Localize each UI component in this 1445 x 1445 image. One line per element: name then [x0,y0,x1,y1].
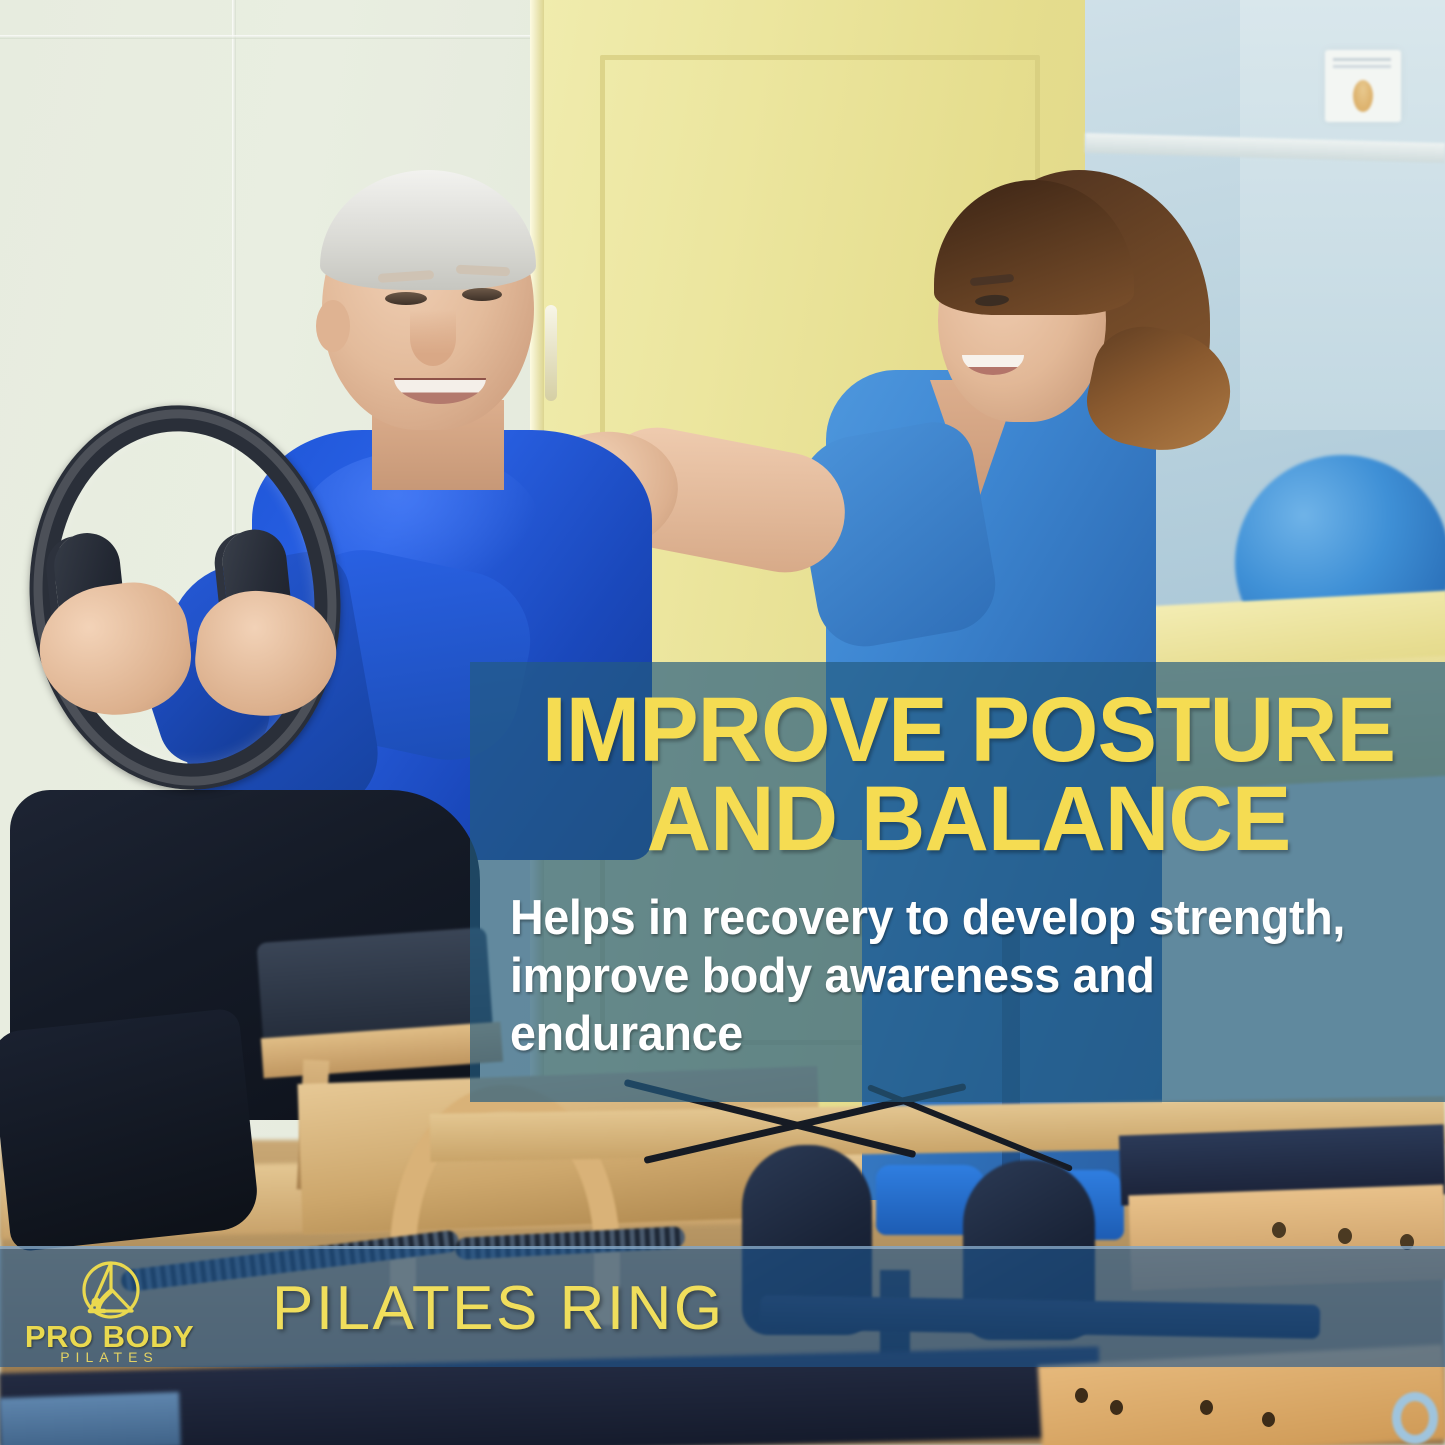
pilates-ring [11,390,360,805]
wood-rail-hole-3 [1200,1400,1213,1415]
wall-seam-horizontal [0,35,530,39]
patient-eye-left [385,292,427,305]
reformer-bench-hole-1 [1272,1222,1286,1238]
patient-nose [410,310,456,366]
reformer-bench-hole-2 [1338,1228,1352,1244]
info-panel: IMPROVE POSTURE AND BALANCE Helps in rec… [470,662,1445,1102]
headline-line-2: AND BALANCE [524,775,1413,864]
patient-ear [316,300,350,352]
brand-tagline: PILATES [22,1349,197,1365]
headline-line-1: IMPROVE POSTURE [542,679,1395,781]
wall-poster [1325,50,1401,122]
wood-rail-hole-4 [1262,1412,1275,1427]
product-name-label: PILATES RING [272,1273,725,1344]
door-handle [545,305,557,401]
info-panel-content: IMPROVE POSTURE AND BALANCE Helps in rec… [510,686,1427,1064]
product-marketing-image: IMPROVE POSTURE AND BALANCE Helps in rec… [0,0,1445,1445]
brand-bar: PRO BODY PILATES PILATES RING [0,1246,1445,1367]
patient-shin [0,1008,261,1253]
reformer-metal-ring [1392,1392,1438,1444]
subtext: Helps in recovery to develop strength, i… [510,890,1381,1063]
wood-rail-hole-1 [1075,1388,1088,1403]
brand-logo: PRO BODY PILATES [22,1257,197,1365]
probody-pilates-emblem-icon [74,1259,148,1327]
foreground-mat-edge [0,1392,181,1445]
wall-poster-text-lines [1333,58,1391,74]
headline: IMPROVE POSTURE AND BALANCE [524,686,1413,864]
patient-eye-right [462,288,502,301]
wood-rail-hole-2 [1110,1400,1123,1415]
